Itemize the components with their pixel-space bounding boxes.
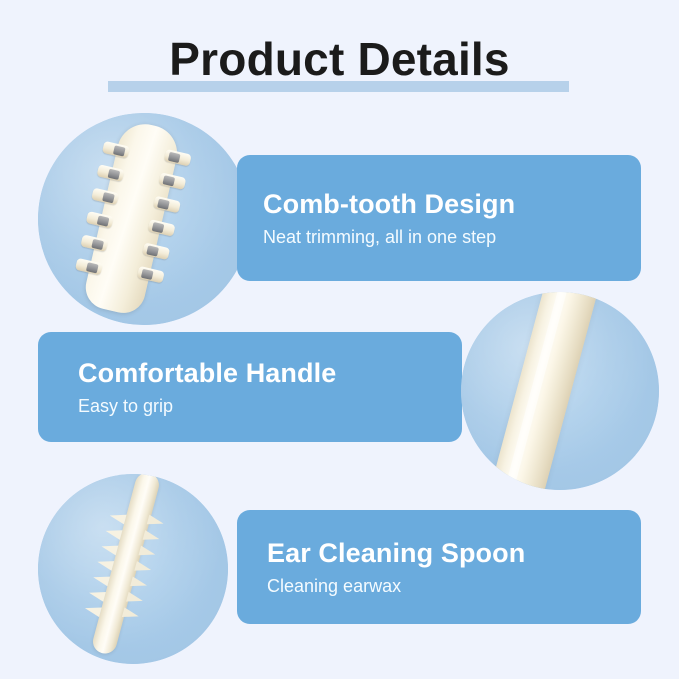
header: Product Details — [0, 0, 679, 105]
product-details-infographic: Product Details — [0, 0, 679, 679]
feature-card-comb-tooth: Comb-tooth Design Neat trimming, all in … — [237, 155, 641, 281]
feature-title: Comfortable Handle — [78, 357, 462, 389]
handle-highlight — [499, 292, 573, 490]
spoon-spike — [96, 557, 114, 571]
spoon-spike — [126, 592, 144, 606]
spoon-spike — [88, 588, 106, 602]
comb-tooth-head-photo — [38, 113, 250, 325]
spoon-spike — [138, 546, 156, 560]
spoon-spike — [84, 603, 102, 617]
feature-card-ear-cleaning-spoon: Ear Cleaning Spoon Cleaning earwax — [237, 510, 641, 624]
spoon-spike — [104, 526, 122, 540]
feature-subtitle: Easy to grip — [78, 394, 462, 418]
feature-title: Comb-tooth Design — [263, 188, 641, 220]
feature-card-comfortable-handle: Comfortable Handle Easy to grip — [38, 332, 462, 442]
feature-subtitle: Neat trimming, all in one step — [263, 225, 641, 249]
page-title: Product Details — [0, 33, 679, 85]
spoon-spike — [130, 576, 148, 590]
ear-spoon-illustration — [67, 474, 183, 662]
feature-title: Ear Cleaning Spoon — [267, 537, 641, 569]
comb-tooth-head-illustration — [68, 116, 196, 321]
spoon-spike — [147, 515, 165, 529]
spoon-spike — [92, 572, 110, 586]
spoon-spike — [122, 607, 140, 621]
ear-cleaning-spoon-photo — [38, 474, 228, 664]
feature-subtitle: Cleaning earwax — [267, 574, 641, 598]
spoon-spike — [108, 511, 126, 525]
handle-photo — [461, 292, 659, 490]
spoon-spike — [100, 542, 118, 556]
spoon-spike — [143, 530, 161, 544]
spoon-spike — [134, 561, 152, 575]
handle-illustration — [485, 292, 601, 490]
